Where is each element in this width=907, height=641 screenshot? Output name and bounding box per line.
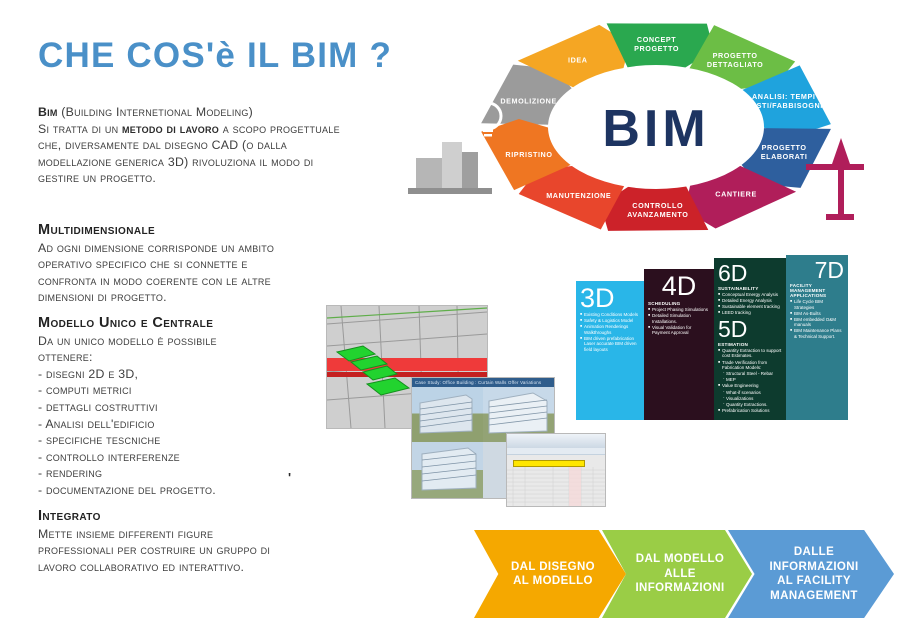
dimension-list-4d: Project Phasing Simulations Detailed Sim… — [648, 307, 710, 336]
list-item: Sustainable element tracking — [718, 304, 782, 310]
dimension-subtitle-4d: SCHEDULING — [648, 301, 710, 306]
intro-heading-line: Bim (Building Internetional Modeling) — [38, 104, 413, 121]
cycle-segment-label: RIPRISTINO — [505, 150, 552, 159]
cycle-segment-label: PROGETTO — [634, 44, 679, 53]
integrato-heading: Integrato — [38, 508, 358, 525]
intro-line1-b: a scopo progettuale — [219, 122, 340, 136]
intro-line1-a: Si tratta di un — [38, 122, 122, 136]
flow-arrow-3-line-1: DALLE — [769, 545, 858, 560]
modello-unico-block: Modello Unico e Centrale Da un unico mod… — [38, 315, 338, 499]
list-item: Existing Conditions Models — [580, 312, 640, 318]
list-item: - Analisi dell'edificio — [38, 416, 338, 433]
flow-arrow-2-line-3: INFORMAZIONI — [635, 581, 724, 596]
multidimensionale-heading: Multidimensionale — [38, 222, 338, 239]
list-item: BIM embedded O&M manuals — [790, 317, 844, 328]
list-item: Safety & Logistics Model — [580, 318, 640, 324]
bim-center-label: BIM — [602, 100, 709, 158]
intro-line1-bold: metodo di lavoro — [122, 122, 219, 136]
multidimensionale-line-4: dimensioni di progetto. — [38, 289, 338, 306]
list-item: Project Phasing Simulations — [648, 307, 710, 313]
dimension-panel-4d: 4D SCHEDULING Project Phasing Simulation… — [644, 269, 714, 420]
list-item: Prefabrication Solutions — [718, 408, 782, 414]
flow-arrow-1-line-1: DAL DISEGNO — [511, 560, 595, 575]
dimension-number-5d: 5D — [718, 318, 782, 341]
cycle-segment-label: IDEA — [568, 55, 588, 64]
list-item: LEED tracking — [718, 310, 782, 316]
render-view-1 — [412, 387, 483, 442]
flow-arrow-1: DAL DISEGNO AL MODELLO — [474, 530, 626, 618]
dimension-list-6d: Conceptual Energy Analysis Detailed Ener… — [718, 292, 782, 316]
intro-line-4: gestire un progetto. — [38, 170, 413, 187]
flow-arrow-3-line-2: INFORMAZIONI — [769, 560, 858, 575]
slide-canvas: CHE COS'è IL BIM ? Bim (Building Interne… — [0, 0, 907, 641]
flow-arrow-3: DALLE INFORMAZIONI AL FACILITY MANAGEMEN… — [728, 530, 894, 618]
flow-arrow-2-line-1: DAL MODELLO — [635, 552, 724, 567]
quantity-takeoff-spreadsheet-thumbnail — [506, 433, 606, 507]
list-item: - documentazione del progetto. — [38, 482, 338, 499]
render-view-3 — [412, 442, 483, 498]
list-item: Detailed Simulation Installations. — [648, 313, 710, 324]
intro-text-block: Bim (Building Internetional Modeling) Si… — [38, 104, 413, 187]
dimension-list-5d: Quantity Extraction to support cost Esti… — [718, 348, 782, 414]
dimension-number-7d: 7D — [790, 259, 844, 282]
dimension-list-7d: Life Cycle BIM Strategies BIM As-Builts … — [790, 299, 844, 340]
multidimensionale-block: Multidimensionale Ad ogni dimensione cor… — [38, 222, 338, 306]
process-flow-arrows: DAL DISEGNO AL MODELLO DAL MODELLO ALLE … — [474, 530, 894, 630]
list-item: - dettagli costruttivi — [38, 399, 338, 416]
flow-arrow-3-line-4: MANAGEMENT — [769, 589, 858, 604]
demolizione-building-icon — [408, 142, 492, 194]
renders-caption: Case Study: Office Building : Curtain Wa… — [412, 378, 554, 387]
list-item: MEP — [718, 377, 782, 383]
dimension-subtitle-5d: ESTIMATION — [718, 342, 782, 347]
cycle-segment-label: CANTIERE — [715, 190, 757, 199]
list-item: Life Cycle BIM Strategies — [790, 299, 844, 310]
cycle-segment-label: PROGETTO — [762, 143, 807, 152]
dimension-subtitle-7d: FACILITY MANAGEMENT APPLICATIONS — [790, 283, 844, 298]
list-item: Quantity Extraction to support cost Esti… — [718, 348, 782, 359]
list-item: - specifiche tescniche — [38, 432, 338, 449]
flow-arrow-2-line-2: ALLE — [635, 567, 724, 582]
list-item: Value Engineering — [718, 383, 782, 389]
cycle-segment-label: MANUTENZIONE — [546, 191, 611, 200]
list-item: Conceptual Energy Analysis — [718, 292, 782, 298]
list-item: Animation Renderings Walkthroughs — [580, 324, 640, 335]
list-item: - controllo interferenze — [38, 449, 338, 466]
list-item: - computi metrici — [38, 382, 338, 399]
list-item: Detailed Energy Analysis — [718, 298, 782, 304]
cycle-segment-label: AVANZAMENTO — [627, 210, 688, 219]
spreadsheet-grid — [507, 434, 605, 506]
dimension-number-4d: 4D — [648, 273, 710, 300]
list-item: Quantity Extractions. — [718, 402, 782, 408]
bim-dimension-panels: 3D Existing Conditions Models Safety & L… — [576, 255, 848, 420]
dimension-number-3d: 3D — [580, 285, 640, 312]
flow-arrow-3-line-3: AL FACILITY — [769, 574, 858, 589]
list-item: BIM As-Builts — [790, 311, 844, 317]
intro-line-2: che, diversamente dal disegno CAD (o dal… — [38, 137, 413, 154]
list-item: Structural Steel - Rebar — [718, 371, 782, 377]
modello-unico-line-2: ottenere: — [38, 349, 338, 366]
multidimensionale-line-3: confronta in modo coerente con le altre — [38, 273, 338, 290]
integrato-line-1: Mette insieme differenti figure — [38, 526, 358, 543]
cycle-segment-label: DETTAGLIATO — [707, 60, 764, 69]
intro-line-1: Si tratta di un metodo di lavoro a scopo… — [38, 121, 413, 138]
list-item: Visualizations — [718, 396, 782, 402]
dimension-number-6d: 6D — [718, 262, 782, 285]
list-item: - rendering — [38, 465, 338, 482]
dimension-panel-6d-5d: 6D SUSTAINABILITY Conceptual Energy Anal… — [714, 258, 786, 420]
list-item: Trade Verification from Fabrication Mode… — [718, 360, 782, 371]
cycle-segment-label: DEMOLIZIONE — [500, 96, 557, 105]
integrato-block: Integrato Mette insieme differenti figur… — [38, 508, 358, 575]
list-item: What-if scenarios — [718, 390, 782, 396]
intro-heading-rest: (Building Internetional Modeling) — [58, 105, 253, 119]
page-title: CHE COS'è IL BIM ? — [38, 36, 392, 76]
cycle-segment-label: COSTI/FABBISOGNI — [745, 101, 823, 110]
intro-heading-bold: Bim — [38, 105, 58, 119]
stray-apostrophe-mark: ' — [288, 470, 291, 485]
cycle-segment-label: ELABORATI — [761, 152, 808, 161]
multidimensionale-line-1: Ad ogni dimensione corrisponde un ambito — [38, 240, 338, 257]
flow-arrow-1-line-2: AL MODELLO — [511, 574, 595, 589]
cycle-segment-label: ANALISI: TEMPI — [752, 92, 816, 101]
list-item: BIM Maintenance Plans & Technical Suppor… — [790, 328, 844, 339]
cycle-segment-label: CONCEPT — [637, 35, 676, 44]
screenshot-thumbnails: Case Study: Office Building : Curtain Wa… — [326, 305, 588, 505]
dimension-subtitle-6d: SUSTAINABILITY — [718, 286, 782, 291]
modello-unico-line-1: Da un unico modello è possibile — [38, 333, 338, 350]
integrato-line-2: professionali per costruire un gruppo di — [38, 542, 358, 559]
dimension-list-3d: Existing Conditions Models Safety & Logi… — [580, 312, 640, 353]
bim-lifecycle-diagram: BIM DEMOLIZIONEIDEACONCEPTPROGETTOPROGET… — [398, 18, 898, 236]
dimension-panel-7d: 7D FACILITY MANAGEMENT APPLICATIONS Life… — [786, 255, 848, 420]
cycle-segment-label: PROGETTO — [713, 51, 758, 60]
multidimensionale-line-2: operativo specifico che si connette e — [38, 256, 338, 273]
intro-line-3: modellazione generica 3D) rivoluziona il… — [38, 154, 413, 171]
list-item: Visual Validation for Payment Approval — [648, 325, 710, 336]
integrato-line-3: lavoro collaborativo ed interattivo. — [38, 559, 358, 576]
cycle-segment-label: CONTROLLO — [632, 201, 683, 210]
list-item: BIM driven prefabrication Laser accurate… — [580, 336, 640, 353]
modello-unico-heading: Modello Unico e Centrale — [38, 315, 338, 332]
list-item: - disegni 2D e 3D, — [38, 366, 338, 383]
